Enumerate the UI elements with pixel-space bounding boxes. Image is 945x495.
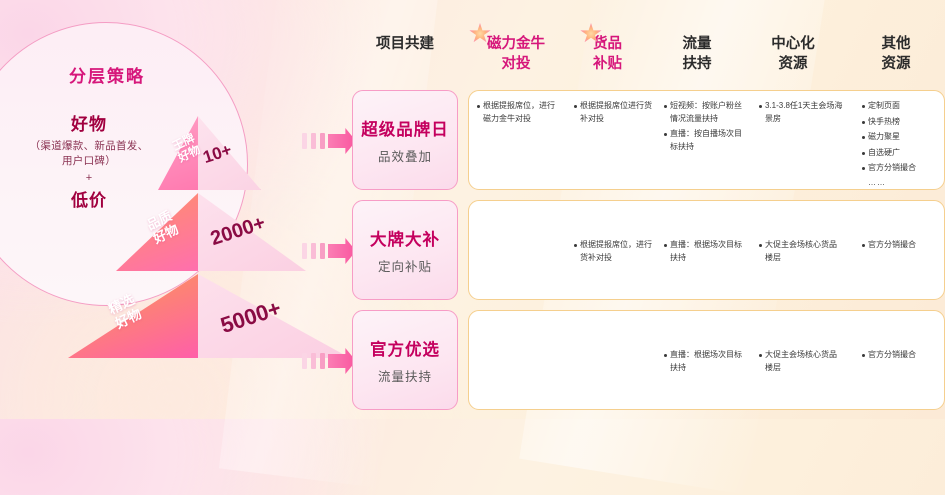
bullet-dot-icon (862, 105, 865, 108)
bullet-text: 直播：按自播场次目标扶持 (670, 128, 744, 153)
bullet-item: 直播：根据场次目标扶持 (664, 349, 744, 374)
row-title-card-3[interactable]: 官方优选 流量扶持 (352, 310, 458, 410)
bullet-dot-icon (664, 244, 667, 247)
arrow-bar-3 (320, 133, 325, 149)
row-title-card-2[interactable]: 大牌大补 定向补贴 (352, 200, 458, 300)
column-header-zhongxinhua: 中心化 资源 (752, 34, 834, 74)
bullet-item: 定制页面 (862, 100, 942, 113)
column-header-liuliang-fuchi-line2: 扶持 (657, 54, 737, 74)
arrow-bar-2 (311, 133, 316, 149)
bullet-text: 官方分销撮合 (868, 162, 942, 175)
bullet-item: 官方分销撮合 (862, 162, 942, 175)
column-header-huopin-butie: 货品 补贴 (570, 34, 645, 74)
circle-title: 分层策略 (0, 62, 250, 87)
row-title-main: 大牌大补 (370, 226, 440, 250)
bullet-item: 大促主会场核心货品楼层 (759, 349, 844, 374)
cell-qita-ziyuan-row-1: 定制页面 快手热榜 磁力聚星 自选硬广 官方分销撮合 (862, 100, 942, 187)
bullet-text: 官方分销撮合 (868, 349, 942, 362)
cell-huopin-butie-row-1: 根据提报席位进行货补对投 (574, 100, 652, 128)
column-header-liuliang-fuchi: 流量 扶持 (657, 34, 737, 74)
cell-huopin-butie-row-2: 根据提报席位，进行货补对投 (574, 239, 652, 267)
arrow-bar-1 (302, 133, 307, 149)
bullet-text: 3.1-3.8任1天主会场海景房 (765, 100, 844, 125)
column-header-zhongxinhua-line2: 资源 (752, 54, 834, 74)
circle-plus-sign: + (0, 172, 214, 184)
arrow-bar-3 (320, 353, 325, 369)
bullet-dot-icon (574, 105, 577, 108)
column-header-qita-ziyuan-line1: 其他 (857, 34, 935, 54)
bullet-dot-icon (574, 244, 577, 247)
row-content-card-3: 直播：根据场次目标扶持 大促主会场核心货品楼层 官方分销撮合 (468, 310, 945, 410)
bullet-text: 直播：根据场次目标扶持 (670, 349, 744, 374)
column-header-huopin-butie-line1: 货品 (570, 34, 645, 54)
bullet-dot-icon (759, 105, 762, 108)
row-content-card-1: 根据提报席位，进行磁力金牛对投 根据提报席位进行货补对投 短视频：按账户粉丝情况… (468, 90, 945, 190)
cell-zhongxinhua-row-1: 3.1-3.8任1天主会场海景房 (759, 100, 844, 128)
bullet-dot-icon (862, 121, 865, 124)
bullet-dot-icon (664, 354, 667, 357)
circle-sub-line2: 用户口碑） (62, 155, 116, 167)
arrow-bar-2 (311, 353, 316, 369)
bullet-dot-icon (477, 105, 480, 108)
cell-liuliang-fuchi-row-2: 直播：根据场次目标扶持 (664, 239, 744, 267)
row-title-sub: 品效叠加 (378, 146, 432, 165)
column-header-huopin-butie-line2: 补贴 (570, 54, 645, 74)
arrow-bar-2 (311, 243, 316, 259)
bullet-item: 根据提报席位，进行磁力金牛对投 (477, 100, 561, 125)
arrow-icon-row-1 (302, 128, 356, 154)
bullet-text: 自选硬广 (868, 147, 942, 160)
bullet-dot-icon (664, 105, 667, 108)
row-title-card-1[interactable]: 超级品牌日 品效叠加 (352, 90, 458, 190)
bullet-text: 定制页面 (868, 100, 942, 113)
column-header-project: 项目共建 (352, 34, 458, 54)
column-header-cili-jinniu-line2: 对投 (467, 54, 565, 74)
bullet-text: 短视频：按账户粉丝情况流量扶持 (670, 100, 744, 125)
bullet-item: 短视频：按账户粉丝情况流量扶持 (664, 100, 744, 125)
ellipsis-text: …… (862, 178, 942, 187)
cell-qita-ziyuan-row-2: 官方分销撮合 (862, 239, 942, 255)
cell-qita-ziyuan-row-3: 官方分销撮合 (862, 349, 942, 365)
table-row: 大牌大补 定向补贴 根据提报席位，进行货补对投 直播：根据场次目标扶持 大促 (352, 200, 945, 300)
bullet-item: 磁力聚星 (862, 131, 942, 144)
arrow-bar-3 (320, 243, 325, 259)
bullet-item: 快手热榜 (862, 116, 942, 129)
bullet-dot-icon (862, 152, 865, 155)
cell-liuliang-fuchi-row-1: 短视频：按账户粉丝情况流量扶持 直播：按自播场次目标扶持 (664, 100, 744, 156)
column-header-zhongxinhua-line1: 中心化 (752, 34, 834, 54)
column-header-qita-ziyuan-line2: 资源 (857, 54, 935, 74)
bullet-dot-icon (862, 244, 865, 247)
row-title-sub: 流量扶持 (378, 366, 432, 385)
bullet-text: 根据提报席位进行货补对投 (580, 100, 652, 125)
arrow-bar-1 (302, 243, 307, 259)
cell-cili-jinniu-row-1: 根据提报席位，进行磁力金牛对投 (477, 100, 561, 128)
bullet-item: 官方分销撮合 (862, 349, 942, 362)
circle-main-label: 好物 (0, 110, 214, 135)
bullet-item: 3.1-3.8任1天主会场海景房 (759, 100, 844, 125)
table-row: 超级品牌日 品效叠加 根据提报席位，进行磁力金牛对投 根据提报席位进行货补对投 (352, 90, 945, 190)
cell-zhongxinhua-row-2: 大促主会场核心货品楼层 (759, 239, 844, 267)
bullet-item: 官方分销撮合 (862, 239, 942, 252)
bullet-text: 快手热榜 (868, 116, 942, 129)
row-title-main: 超级品牌日 (361, 116, 449, 140)
bullet-item: 自选硬广 (862, 147, 942, 160)
bullet-text: 大促主会场核心货品楼层 (765, 349, 844, 374)
bullet-dot-icon (759, 244, 762, 247)
bullet-text: 直播：根据场次目标扶持 (670, 239, 744, 264)
bullet-item: 直播：按自播场次目标扶持 (664, 128, 744, 153)
arrow-icon-row-2 (302, 238, 356, 264)
cell-liuliang-fuchi-row-3: 直播：根据场次目标扶持 (664, 349, 744, 377)
bullet-text: 根据提报席位，进行货补对投 (580, 239, 652, 264)
circle-sub-line1: （渠道爆款、新品首发、 (30, 140, 149, 152)
bullet-dot-icon (664, 133, 667, 136)
column-header-liuliang-fuchi-line1: 流量 (657, 34, 737, 54)
bullet-text: 大促主会场核心货品楼层 (765, 239, 844, 264)
bullet-dot-icon (862, 167, 865, 170)
column-header-cili-jinniu: 磁力金牛 对投 (467, 34, 565, 74)
row-title-main: 官方优选 (370, 336, 440, 360)
table-row: 官方优选 流量扶持 直播：根据场次目标扶持 大促主会场核心货品楼层 官方分销 (352, 310, 945, 410)
table-header-row: 项目共建 磁力金牛 对投 货品 补贴 流量 扶持 中心化 资源 其他 资源 (352, 34, 945, 82)
bullet-dot-icon (862, 136, 865, 139)
bullet-text: 磁力聚星 (868, 131, 942, 144)
bullet-item: 大促主会场核心货品楼层 (759, 239, 844, 264)
row-content-card-2: 根据提报席位，进行货补对投 直播：根据场次目标扶持 大促主会场核心货品楼层 (468, 200, 945, 300)
arrow-bar-1 (302, 353, 307, 369)
column-header-project-line1: 项目共建 (352, 34, 458, 54)
bullet-item: 根据提报席位进行货补对投 (574, 100, 652, 125)
diagram-canvas: 分层策略 好物 （渠道爆款、新品首发、 用户口碑） + 低价 王牌 好物 品质 … (0, 0, 945, 419)
arrow-icon-row-3 (302, 348, 356, 374)
bullet-dot-icon (759, 354, 762, 357)
bullet-text: 官方分销撮合 (868, 239, 942, 252)
cell-zhongxinhua-row-3: 大促主会场核心货品楼层 (759, 349, 844, 377)
column-header-qita-ziyuan: 其他 资源 (857, 34, 935, 74)
bullet-item: 直播：根据场次目标扶持 (664, 239, 744, 264)
bullet-text: 根据提报席位，进行磁力金牛对投 (483, 100, 561, 125)
row-title-sub: 定向补贴 (378, 256, 432, 275)
bullet-dot-icon (862, 354, 865, 357)
bullet-item: 根据提报席位，进行货补对投 (574, 239, 652, 264)
